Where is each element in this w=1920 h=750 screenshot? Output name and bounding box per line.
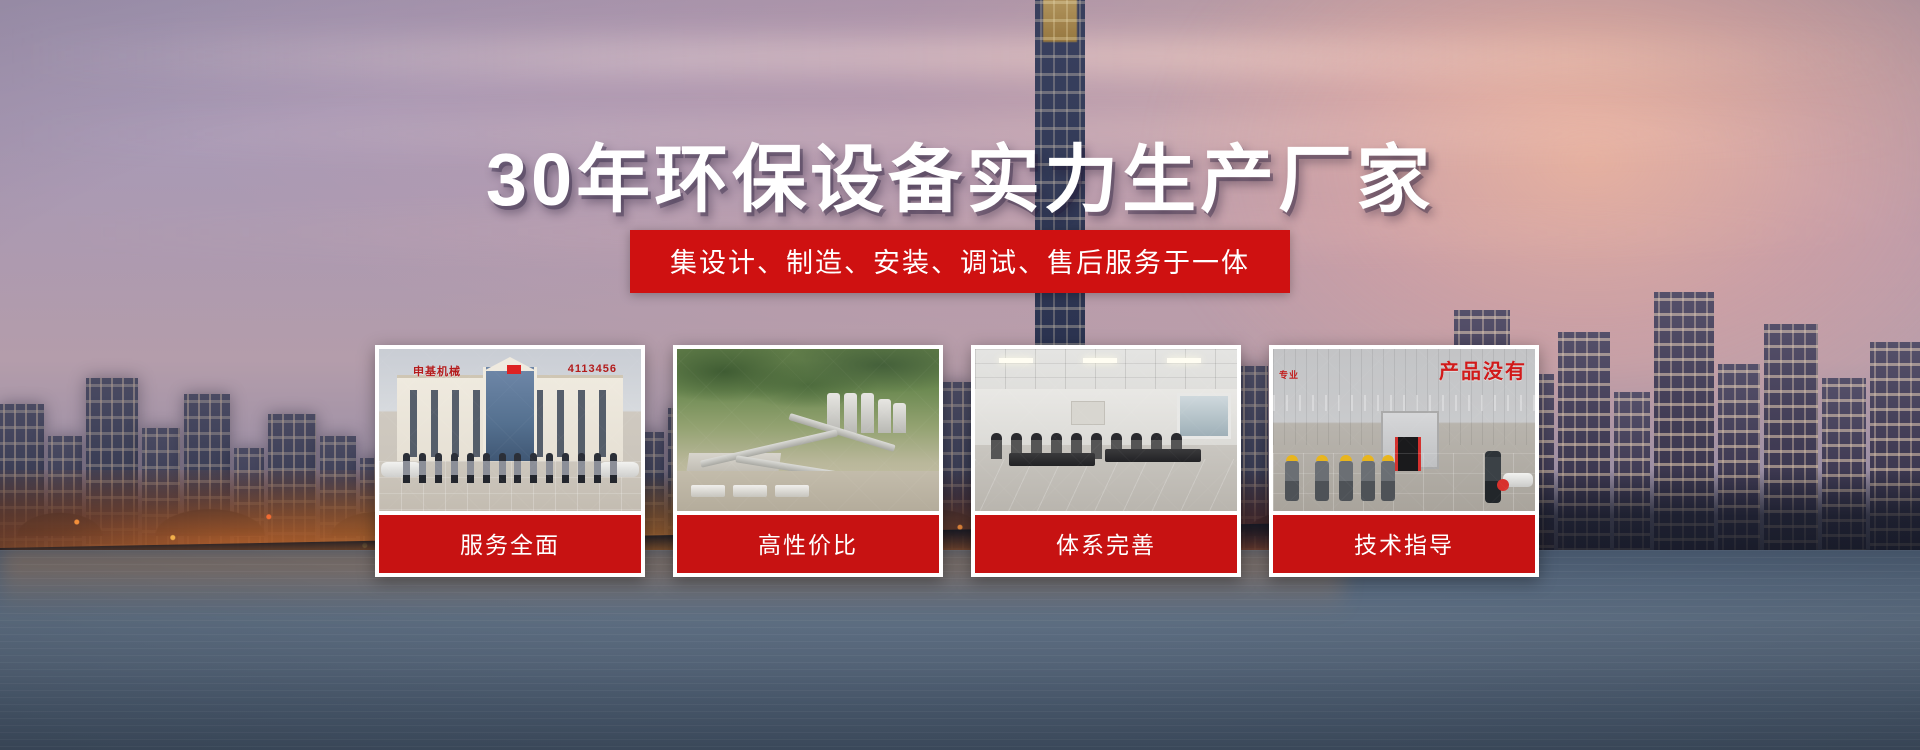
aerial-plant-image bbox=[677, 349, 939, 511]
feature-card[interactable]: 申基机械 4113456 服务全面 bbox=[375, 345, 645, 577]
hero-banner: 30年环保设备实力生产厂家 集设计、制造、安装、调试、售后服务于一体 申基机械 … bbox=[0, 0, 1920, 750]
factory-banner-text: 产品没有 bbox=[1439, 355, 1527, 384]
feature-card[interactable]: 高性价比 bbox=[673, 345, 943, 577]
feature-card[interactable]: 产品没有 专业 技术指导 bbox=[1269, 345, 1539, 577]
factory-yard-image: 产品没有 专业 bbox=[1273, 349, 1535, 511]
company-office-building-image: 申基机械 4113456 bbox=[379, 349, 641, 511]
page-title: 30年环保设备实力生产厂家 bbox=[0, 120, 1920, 227]
subtitle-banner: 集设计、制造、安装、调试、售后服务于一体 bbox=[630, 230, 1290, 293]
feature-card-caption: 服务全面 bbox=[379, 515, 641, 573]
factory-slogan-text: 专业 bbox=[1279, 369, 1299, 381]
hero-content: 30年环保设备实力生产厂家 集设计、制造、安装、调试、售后服务于一体 申基机械 … bbox=[0, 0, 1920, 750]
feature-card[interactable]: 体系完善 bbox=[971, 345, 1241, 577]
building-sign-text: 申基机械 bbox=[413, 363, 461, 379]
feature-card-list: 申基机械 4113456 服务全面 bbox=[375, 345, 1545, 577]
feature-card-caption: 高性价比 bbox=[677, 515, 939, 573]
building-phone-text: 4113456 bbox=[568, 363, 617, 375]
flag-icon bbox=[507, 365, 521, 374]
office-interior-image bbox=[975, 349, 1237, 511]
feature-card-caption: 技术指导 bbox=[1273, 515, 1535, 573]
feature-card-caption: 体系完善 bbox=[975, 515, 1237, 573]
red-helmet-icon bbox=[1497, 479, 1509, 491]
